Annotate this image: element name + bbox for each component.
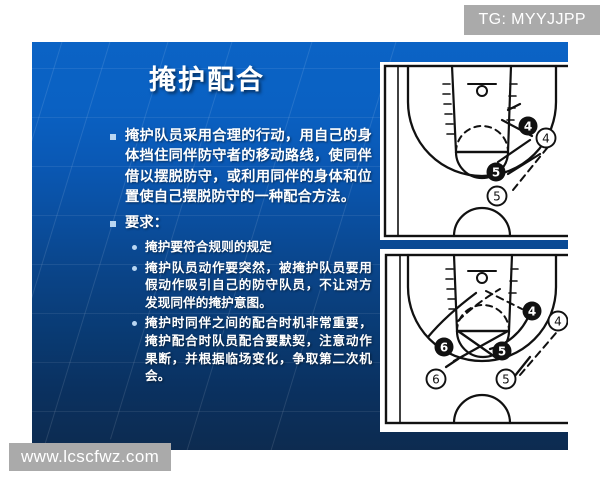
sub-bullet-list: 掩护要符合规则的规定 掩护队员动作要突然，被掩护队员要用假动作吸引自己的防守队员…	[132, 238, 372, 385]
svg-text:5: 5	[493, 190, 501, 204]
bullet-item: 掩护队员采用合理的行动，用自己的身体挡住同伴防守者的移动路线，使同伴借以摆脱防守…	[110, 126, 372, 208]
svg-text:6: 6	[440, 341, 448, 355]
svg-text:6: 6	[432, 373, 440, 387]
player-marker-4-outline: 4	[549, 312, 568, 331]
svg-text:4: 4	[542, 132, 550, 146]
svg-text:5: 5	[492, 166, 500, 180]
dot-bullet-icon	[132, 266, 137, 271]
svg-text:5: 5	[502, 373, 510, 387]
player-marker-4-filled: 4	[519, 117, 538, 136]
player-marker-4-filled: 4	[523, 302, 542, 321]
sub-bullet-item: 掩护时同伴之间的配合时机非常重要，掩护配合时队员配合要默契，注意动作果断，并根据…	[132, 314, 372, 384]
svg-text:4: 4	[554, 315, 562, 329]
square-bullet-icon	[110, 221, 116, 227]
player-marker-4-outline: 4	[537, 129, 556, 148]
slide-title: 掩护配合	[32, 58, 382, 97]
court-diagram-bottom: 4 4 5 5 6	[380, 249, 568, 432]
bullet-text: 掩护队员采用合理的行动，用自己的身体挡住同伴防守者的移动路线，使同伴借以摆脱防守…	[125, 126, 372, 208]
sub-bullet-item: 掩护要符合规则的规定	[132, 238, 372, 256]
player-marker-5-filled: 5	[493, 342, 512, 361]
dot-bullet-icon	[132, 321, 137, 326]
slide-body: 掩护队员采用合理的行动，用自己的身体挡住同伴防守者的移动路线，使同伴借以摆脱防守…	[110, 126, 372, 388]
svg-text:4: 4	[528, 305, 536, 319]
svg-text:5: 5	[498, 345, 506, 359]
sub-bullet-item: 掩护队员动作要突然，被掩护队员要用假动作吸引自己的防守队员，不让对方发现同伴的掩…	[132, 259, 372, 312]
player-marker-5-filled: 5	[487, 163, 506, 182]
sub-bullet-text: 掩护要符合规则的规定	[145, 238, 272, 256]
sub-bullet-text: 掩护时同伴之间的配合时机非常重要，掩护配合时队员配合要默契，注意动作果断，并根据…	[145, 314, 372, 384]
player-marker-6-outline: 6	[427, 370, 446, 389]
player-marker-5-outline: 5	[497, 370, 516, 389]
site-watermark: www.lcscfwz.com	[9, 443, 171, 471]
svg-text:4: 4	[524, 120, 532, 134]
player-marker-5-outline: 5	[488, 187, 507, 206]
bullet-text: 要求：	[125, 213, 168, 233]
bullet-item: 要求：	[110, 213, 372, 233]
telegram-watermark: TG: MYYJJPP	[464, 5, 600, 35]
sub-bullet-text: 掩护队员动作要突然，被掩护队员要用假动作吸引自己的防守队员，不让对方发现同伴的掩…	[145, 259, 372, 312]
square-bullet-icon	[110, 134, 116, 140]
dot-bullet-icon	[132, 245, 137, 250]
presentation-slide: 掩护配合 掩护队员采用合理的行动，用自己的身体挡住同伴防守者的移动路线，使同伴借…	[32, 42, 568, 450]
player-marker-6-filled: 6	[435, 338, 454, 357]
court-diagram-top: 4 4 5 5	[380, 62, 568, 240]
